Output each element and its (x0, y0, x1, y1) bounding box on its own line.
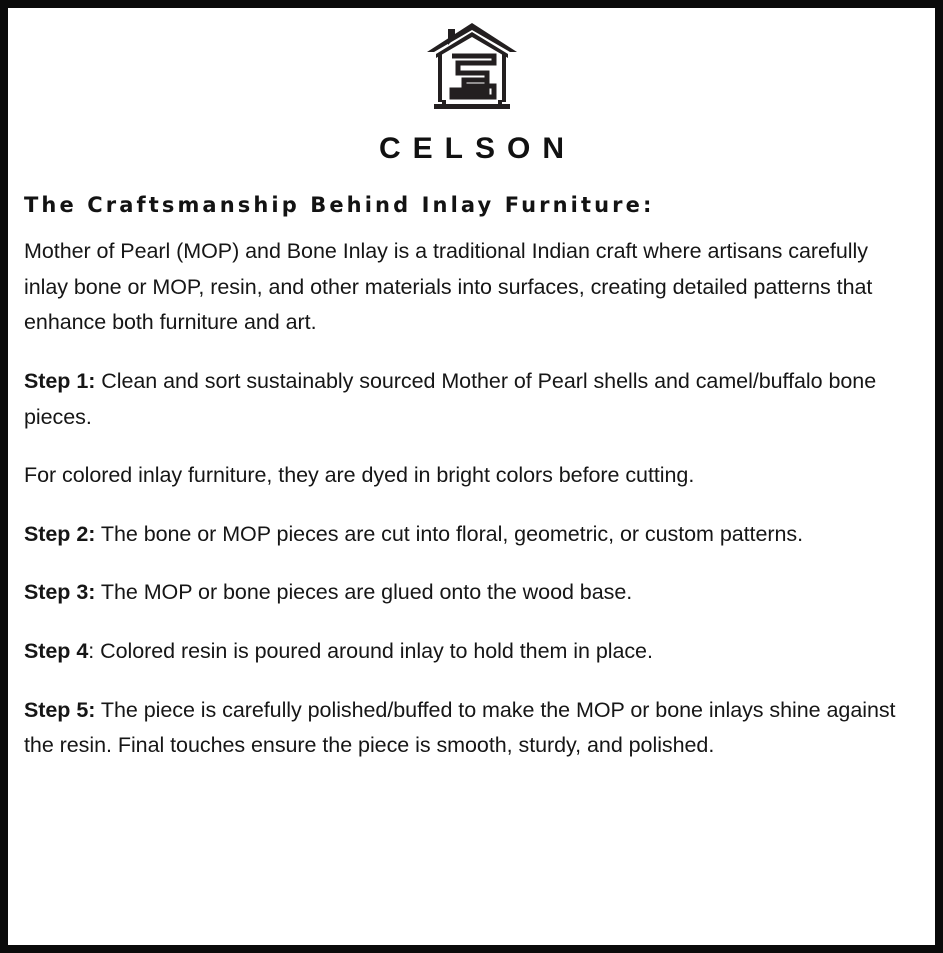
step-label: Step 3: (24, 580, 95, 604)
paragraph-text: Mother of Pearl (MOP) and Bone Inlay is … (24, 239, 872, 334)
step-label: Step 1: (24, 369, 95, 393)
page-title: The Craftsmanship Behind Inlay Furniture… (24, 193, 927, 218)
brand-header: CELSON (16, 14, 927, 164)
paragraph-text: The MOP or bone pieces are glued onto th… (95, 580, 632, 604)
paragraph-intro: Mother of Pearl (MOP) and Bone Inlay is … (24, 234, 916, 341)
paragraph-step-4: Step 4: Colored resin is poured around i… (24, 634, 916, 670)
paragraph-step-1: Step 1: Clean and sort sustainably sourc… (24, 364, 916, 435)
paragraph-text: The piece is carefully polished/buffed t… (24, 698, 895, 758)
paragraph-text: For colored inlay furniture, they are dy… (24, 463, 694, 487)
paragraph-colored-inlay-note: For colored inlay furniture, they are dy… (24, 458, 916, 494)
paragraph-step-3: Step 3: The MOP or bone pieces are glued… (24, 575, 916, 611)
body-copy: Mother of Pearl (MOP) and Bone Inlay is … (24, 218, 927, 764)
step-label: Step 2: (24, 522, 95, 546)
paragraph-text: Colored resin is poured around inlay to … (94, 639, 653, 663)
paragraph-text: Clean and sort sustainably sourced Mothe… (24, 369, 876, 429)
paragraph-step-2: Step 2: The bone or MOP pieces are cut i… (24, 517, 916, 553)
house-with-s-monogram-logo-icon (424, 18, 520, 120)
paragraph-text: The bone or MOP pieces are cut into flor… (95, 522, 803, 546)
step-label: Step 4 (24, 639, 88, 663)
poster-content: CELSON The Craftsmanship Behind Inlay Fu… (8, 8, 935, 945)
paragraph-step-5: Step 5: The piece is carefully polished/… (24, 693, 916, 764)
brand-wordmark: CELSON (16, 134, 927, 164)
poster-frame: CELSON The Craftsmanship Behind Inlay Fu… (0, 0, 943, 953)
step-label: Step 5: (24, 698, 95, 722)
